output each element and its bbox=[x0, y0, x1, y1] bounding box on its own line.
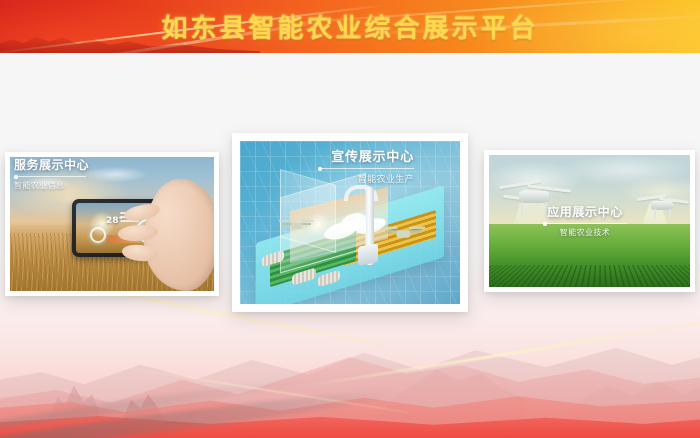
page-header-banner: 如东县智能农业综合展示平台 bbox=[0, 0, 700, 53]
drone-body bbox=[291, 223, 302, 229]
platform-showcase-page: 如东县智能农业综合展示平台 28° bbox=[0, 0, 700, 438]
light-streak bbox=[302, 319, 700, 388]
card-title-promotion: 宣传展示中心 bbox=[318, 146, 414, 165]
mountain-layer-far bbox=[0, 316, 700, 438]
drone-leg bbox=[669, 209, 671, 218]
divider-dot bbox=[14, 175, 18, 179]
caption-application-center: 应用展示中心 智能农业技术 bbox=[543, 203, 627, 238]
drone-body bbox=[397, 230, 411, 238]
page-title: 如东县智能农业综合展示平台 bbox=[0, 0, 700, 53]
card-title-application: 应用展示中心 bbox=[543, 203, 627, 220]
drone-leg bbox=[654, 209, 656, 218]
mountain-peak bbox=[122, 386, 164, 420]
caption-divider bbox=[543, 223, 627, 224]
crop-rows bbox=[489, 265, 690, 287]
drone-icon bbox=[385, 223, 433, 246]
drone-rotor bbox=[409, 227, 425, 230]
water-tank bbox=[358, 243, 378, 266]
caption-service-center: 服务展示中心 智能农业信息 bbox=[14, 156, 89, 191]
drone-rotor bbox=[279, 220, 292, 222]
landscape-shadow-band bbox=[0, 383, 409, 438]
drone-leg bbox=[521, 202, 523, 215]
drone-icon bbox=[282, 217, 312, 231]
card-title-service: 服务展示中心 bbox=[14, 156, 89, 173]
drone-icon bbox=[635, 189, 689, 223]
light-streak bbox=[112, 365, 409, 414]
mountain-layer-near bbox=[0, 366, 700, 438]
mountain-layer-mid bbox=[0, 334, 700, 438]
mountain-peak bbox=[376, 360, 526, 420]
caption-divider bbox=[318, 168, 414, 169]
caption-promotion-center: 宣传展示中心 智能农业生产 bbox=[318, 146, 414, 185]
divider-dot bbox=[318, 167, 322, 171]
landscape-shadow-band bbox=[0, 374, 319, 438]
mountain-layer-front bbox=[0, 394, 700, 438]
card-subtitle-service: 智能农业信息 bbox=[14, 180, 89, 191]
caption-divider bbox=[14, 176, 86, 177]
mountain-peak bbox=[560, 366, 700, 420]
mountain-peak bbox=[48, 378, 102, 420]
drone-rotor bbox=[382, 227, 398, 230]
card-subtitle-promotion: 智能农业生产 bbox=[318, 172, 414, 185]
card-subtitle-application: 智能农业技术 bbox=[543, 227, 627, 238]
hand-illustration bbox=[144, 179, 214, 291]
divider-dot bbox=[543, 222, 547, 226]
drone-rotor bbox=[301, 220, 314, 222]
hud-ring-icon bbox=[90, 227, 106, 243]
